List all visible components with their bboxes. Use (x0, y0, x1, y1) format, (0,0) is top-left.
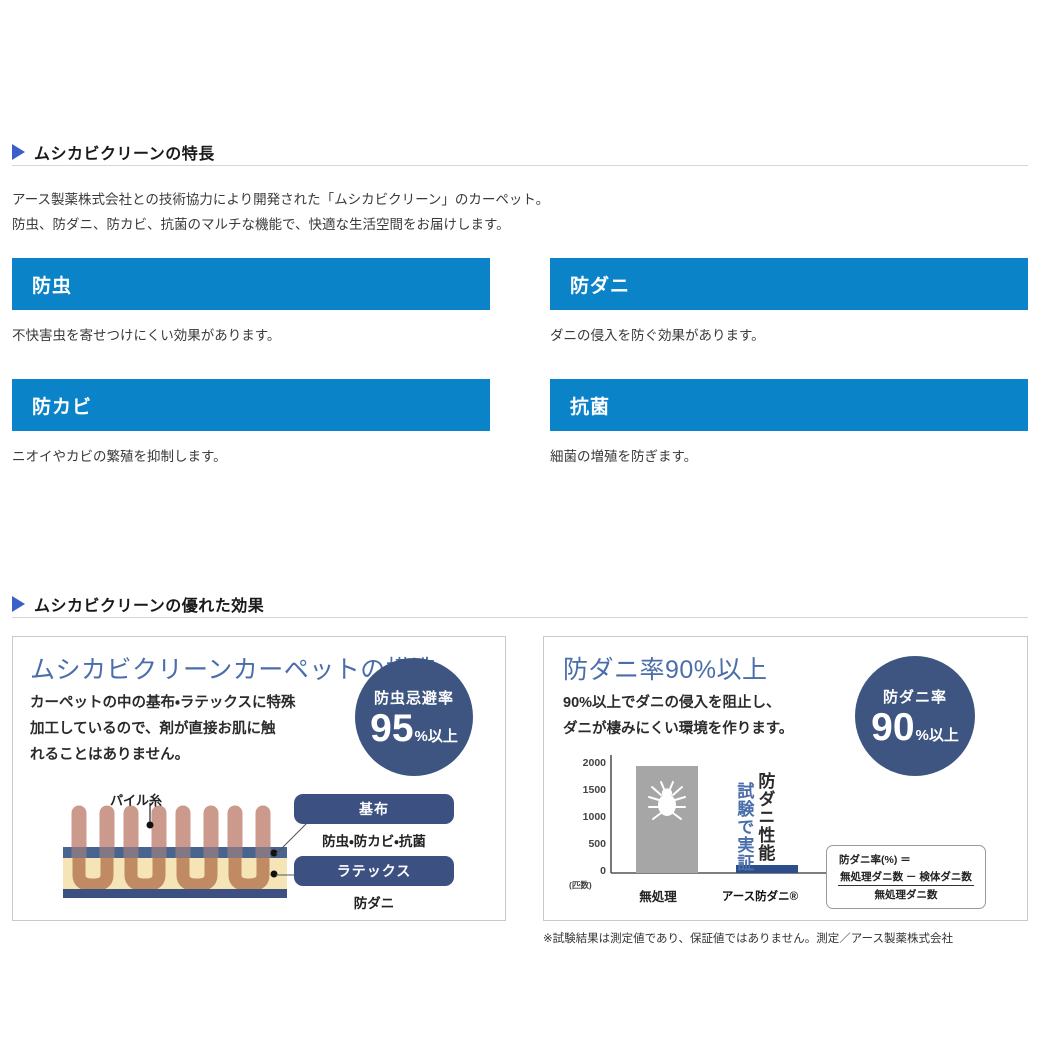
chart-xlabel-untreated: 無処理 (608, 886, 708, 905)
chart-footnote: ※試験結果は測定値であり、保証値ではありません。測定／アース製薬株式会社 (543, 930, 953, 946)
feature-card-koukin-header: 抗菌 (550, 379, 1028, 431)
feature-card-boukabi-header: 防カビ (12, 379, 490, 431)
formula-numerator: 無処理ダニ数 － 検体ダニ数 (838, 869, 974, 886)
badge-mite-rate-value: 90 (871, 708, 914, 747)
formula-box: 防ダニ率(%) ＝ 無処理ダニ数 － 検体ダニ数 無処理ダニ数 (826, 845, 986, 909)
tag-latex-label: ラテックス (337, 861, 412, 881)
section-heading-effects: ムシカビクリーンの優れた効果 (12, 592, 264, 616)
feature-card-koukin-desc: 細菌の増殖を防ぎます。 (550, 445, 1028, 465)
carpet-structure-body-3: れることはありません。 (30, 742, 189, 768)
badge-mite-rate-label: 防ダニ率 (883, 686, 947, 707)
tag-latex: ラテックス (294, 856, 454, 886)
feature-card-boudani-header: 防ダニ (550, 258, 1028, 310)
section-heading-features: ムシカビクリーンの特長 (12, 140, 215, 164)
formula-line-1: 防ダニ率(%) ＝ (827, 852, 911, 867)
carpet-structure-body-2: 加工しているので、剤が直接お肌に触 (30, 716, 275, 742)
feature-card-boudani-title: 防ダニ (570, 271, 630, 298)
feature-card-boushi-desc: 不快害虫を寄せつけにくい効果があります。 (12, 324, 490, 344)
page-root: ムシカビクリーンの特長 アース製薬株式会社との技術協力により開発された「ムシカビ… (0, 0, 1040, 1040)
intro-line-1: アース製薬株式会社との技術協力により開発された「ムシカビクリーン」のカーペット。 (12, 187, 549, 212)
badge-insect-repel-label: 防虫忌避率 (374, 687, 454, 708)
badge-insect-repel-suffix: %以上 (415, 725, 458, 746)
chart-xlabel-treated: アース防ダニ® (706, 888, 814, 904)
badge-insect-repel-value: 95 (370, 709, 413, 748)
tag-kifu-sub: 防虫・防カビ・抗菌 (294, 830, 454, 850)
tag-kifu-label: 基布 (359, 799, 389, 819)
carpet-structure-body-1: カーペットの中の基布・ラテックスに特殊 (30, 690, 296, 716)
mite-rate-body-2: ダニが棲みにくい環境を作ります。 (563, 716, 793, 742)
intro-line-2: 防虫、防ダニ、防カビ、抗菌のマルチな機能で、快適な生活空間をお届けします。 (12, 212, 510, 237)
feature-card-boudani-desc: ダニの侵入を防ぐ効果があります。 (550, 324, 1028, 344)
section-heading-effects-label: ムシカビクリーンの優れた効果 (34, 592, 264, 616)
chart-ytick-500: 500 (572, 838, 606, 850)
mite-rate-body-1: 90%以上でダニの侵入を阻止し、 (563, 690, 781, 716)
section-divider-2 (12, 617, 1028, 618)
mite-bar-chart-svg (608, 755, 828, 880)
badge-mite-rate-suffix: %以上 (916, 724, 959, 745)
tag-kifu: 基布 (294, 794, 454, 824)
feature-card-boushi: 防虫 不快害虫を寄せつけにくい効果があります。 (12, 258, 490, 344)
badge-insect-repel-rate: 防虫忌避率 95 %以上 (355, 658, 473, 776)
pile-yarn-label: パイル糸 (110, 790, 162, 809)
feature-card-koukin: 抗菌 細菌の増殖を防ぎます。 (550, 379, 1028, 465)
feature-card-boukabi-title: 防カビ (32, 392, 92, 419)
feature-card-boushi-title: 防虫 (32, 271, 72, 298)
feature-card-koukin-title: 抗菌 (570, 392, 610, 419)
chart-unit-label: (匹数) (569, 879, 592, 891)
section-heading-features-label: ムシカビクリーンの特長 (34, 140, 215, 164)
carpet-cross-section-diagram (55, 795, 295, 910)
chart-ytick-1500: 1500 (572, 784, 606, 796)
badge-mite-rate: 防ダニ率 90 %以上 (855, 656, 975, 776)
section-divider-1 (12, 165, 1028, 166)
formula-denominator: 無処理ダニ数 (875, 886, 938, 902)
feature-card-boukabi-desc: ニオイやカビの繁殖を抑制します。 (12, 445, 490, 465)
chart-annotation-verified: 試験で実証 (735, 782, 752, 872)
triangle-bullet-icon (12, 144, 25, 160)
feature-card-boushi-header: 防虫 (12, 258, 490, 310)
chart-ytick-0: 0 (572, 865, 606, 877)
feature-card-boudani: 防ダニ ダニの侵入を防ぐ効果があります。 (550, 258, 1028, 344)
triangle-bullet-icon (12, 596, 25, 612)
mite-rate-title: 防ダニ率90%以上 (563, 650, 768, 686)
bar-untreated (636, 766, 698, 873)
tag-latex-sub: 防ダニ (294, 892, 454, 912)
chart-ytick-2000: 2000 (572, 757, 606, 769)
chart-annotation-performance: 防ダニ性能 (756, 772, 773, 862)
feature-card-boukabi: 防カビ ニオイやカビの繁殖を抑制します。 (12, 379, 490, 465)
chart-ytick-1000: 1000 (572, 811, 606, 823)
